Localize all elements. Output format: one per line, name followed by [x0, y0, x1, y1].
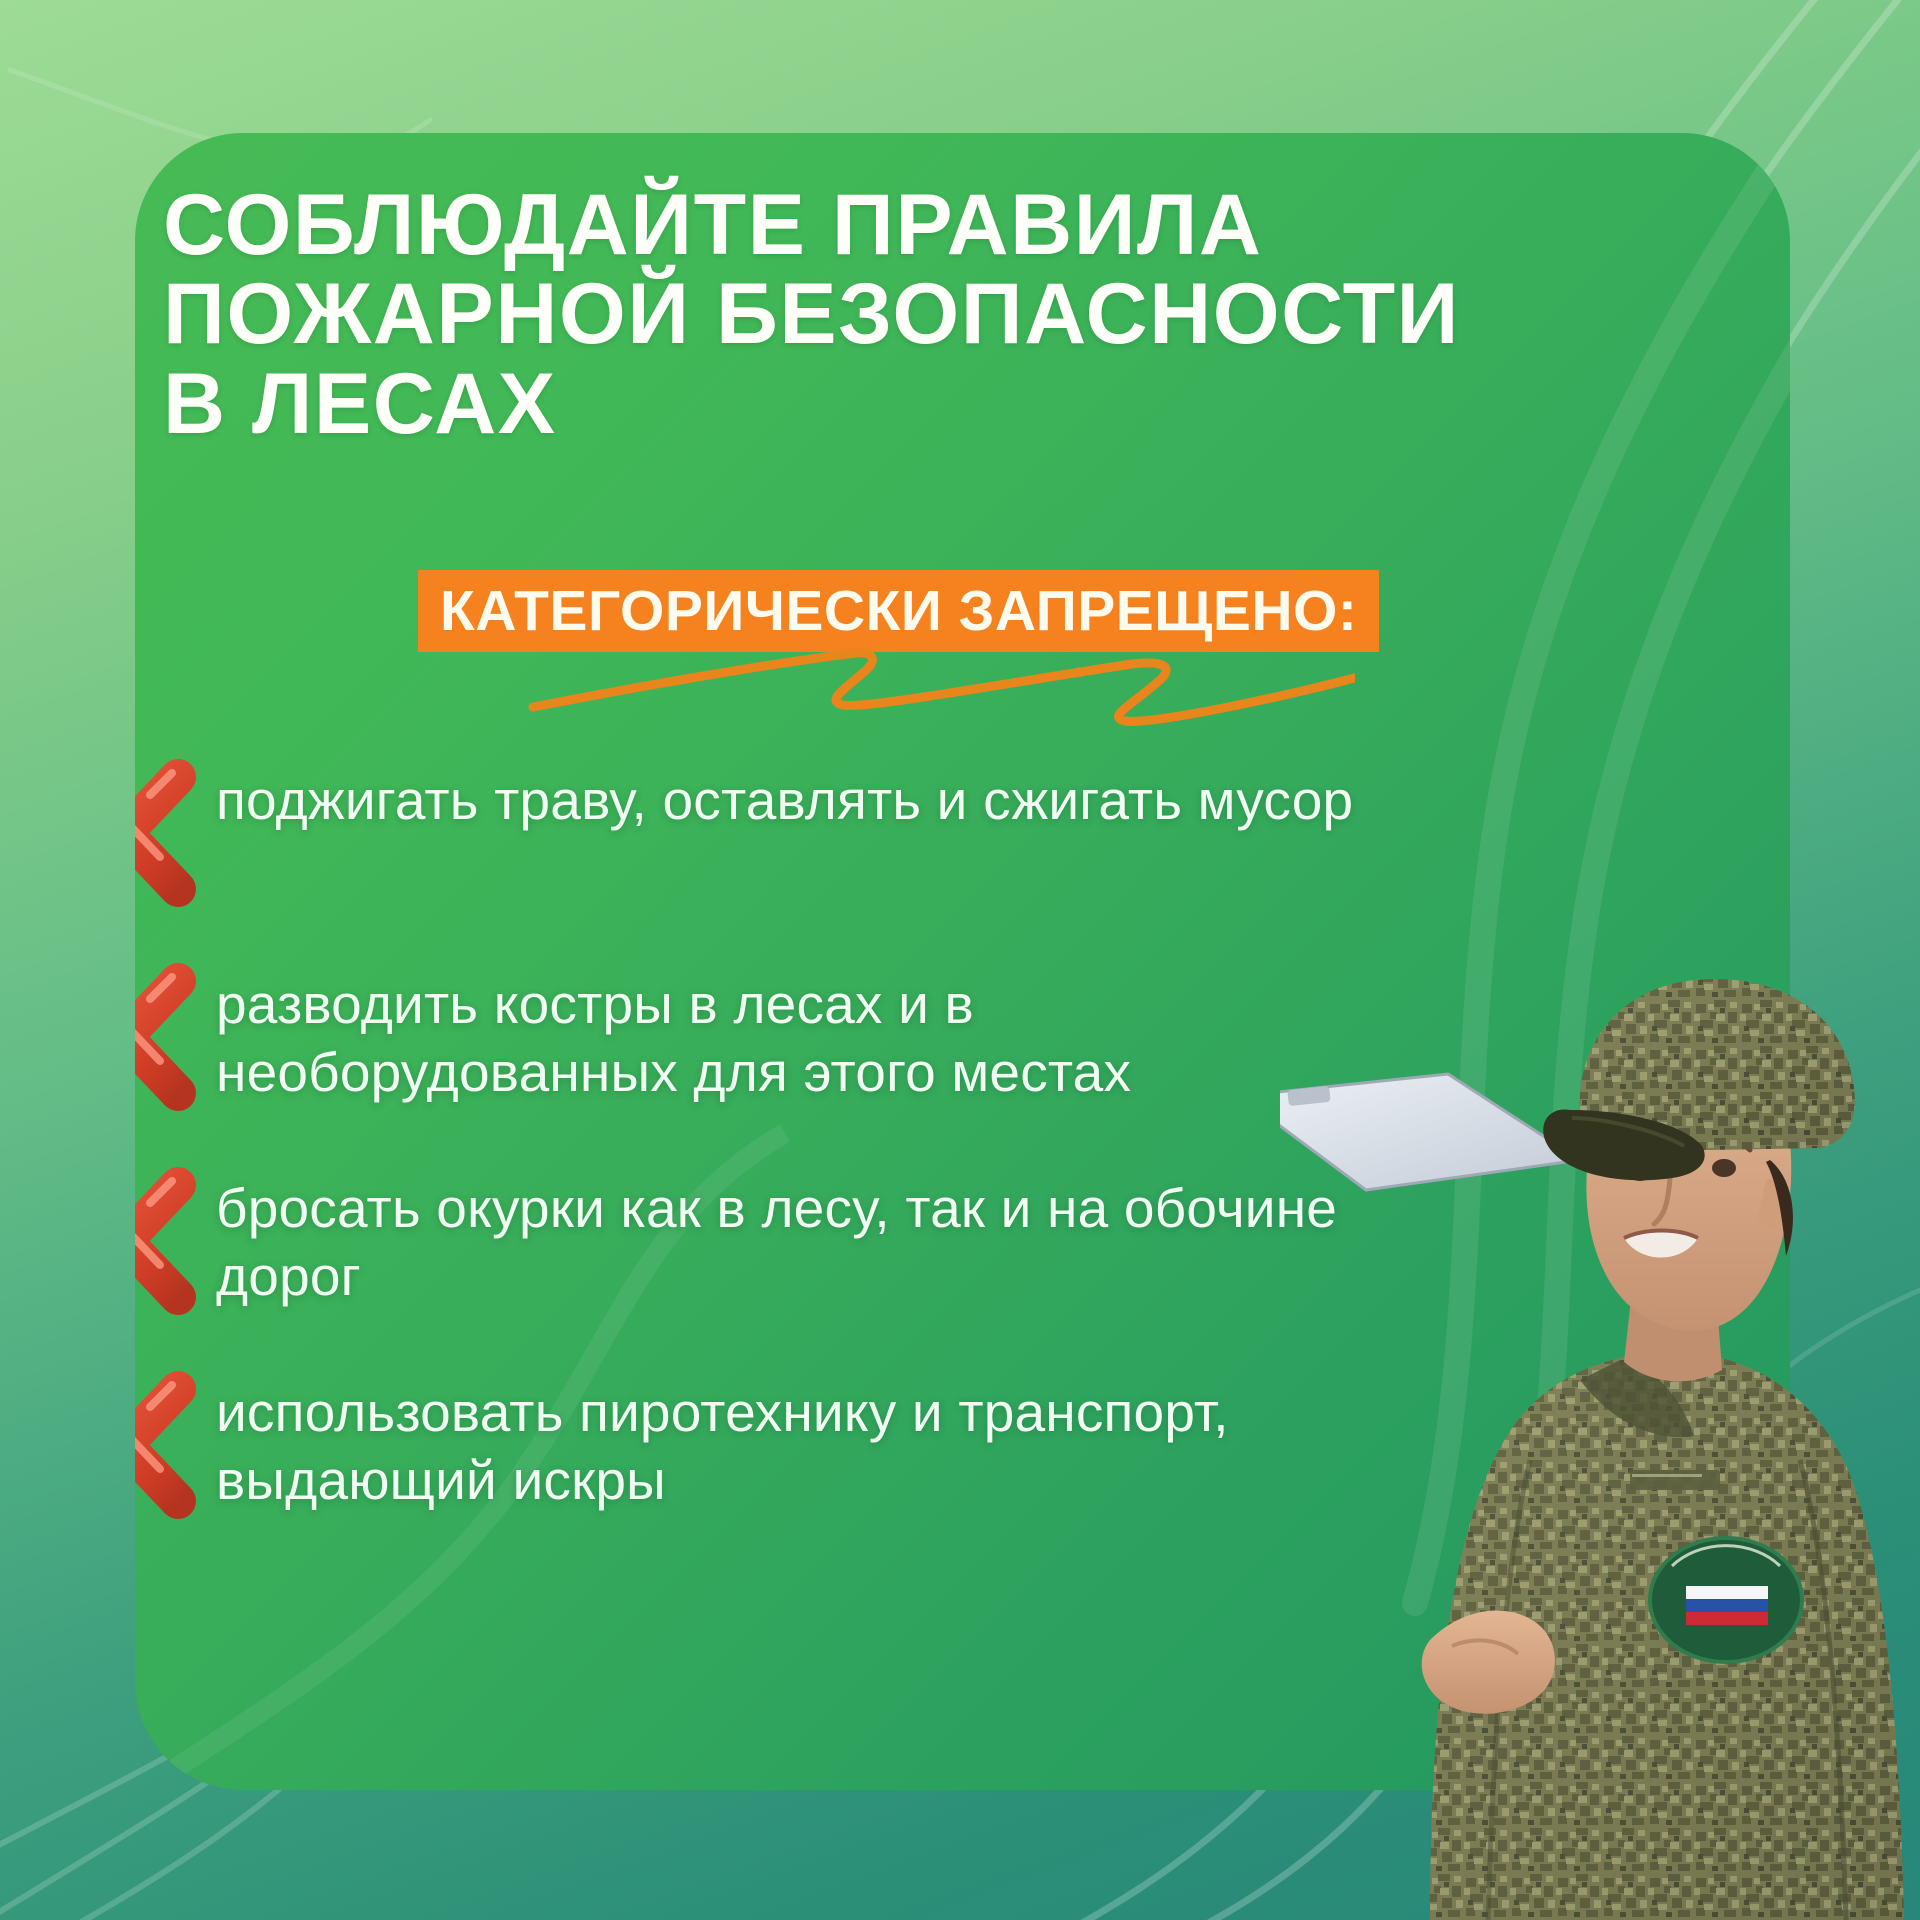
x-cross-icon	[135, 753, 210, 913]
russian-flag-icon	[1686, 1586, 1768, 1625]
scribble-underline-icon	[525, 645, 1355, 730]
ranger-photo	[1280, 860, 1920, 1920]
list-item-text: разводить костры в лесах и в необорудова…	[216, 957, 1446, 1106]
camouflage-cap	[1543, 979, 1855, 1180]
poster-root: СОБЛЮДАЙТЕ ПРАВИЛА ПОЖАРНОЙ БЕЗОПАСНОСТИ…	[0, 0, 1920, 1920]
prohibited-banner: КАТЕГОРИЧЕСКИ ЗАПРЕЩЕНО:	[418, 570, 1379, 652]
clipboard	[1280, 1074, 1580, 1190]
headline-line-3: В ЛЕСАХ	[163, 360, 1763, 449]
list-item-text: бросать окурки как в лесу, так и на обоч…	[216, 1161, 1446, 1310]
x-cross-icon	[135, 957, 210, 1117]
service-patch	[1650, 1538, 1802, 1662]
headline-line-1: СОБЛЮДАЙТЕ ПРАВИЛА	[163, 181, 1763, 270]
headline-line-2: ПОЖАРНОЙ БЕЗОПАСНОСТИ	[163, 270, 1763, 359]
list-item-text: использовать пиротехнику и транспорт, вы…	[216, 1365, 1446, 1514]
x-cross-icon	[135, 1365, 210, 1525]
page-title: СОБЛЮДАЙТЕ ПРАВИЛА ПОЖАРНОЙ БЕЗОПАСНОСТИ…	[163, 181, 1763, 449]
list-item-text: поджигать траву, оставлять и сжигать мус…	[216, 753, 1446, 835]
prohibited-banner-label: КАТЕГОРИЧЕСКИ ЗАПРЕЩЕНО:	[440, 583, 1357, 640]
x-cross-icon	[135, 1161, 210, 1321]
